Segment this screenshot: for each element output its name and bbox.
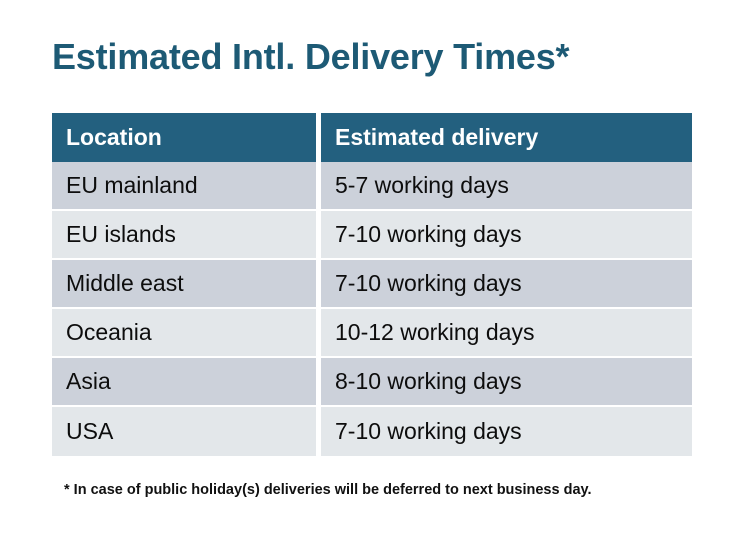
table-row: Middle east 7-10 working days — [52, 260, 692, 309]
delivery-times-table: Location Estimated delivery EU mainland … — [52, 113, 692, 456]
cell-estimated-delivery: 5-7 working days — [321, 162, 692, 211]
cell-location: EU mainland — [52, 162, 316, 211]
table-row: EU mainland 5-7 working days — [52, 162, 692, 211]
table-header-row: Location Estimated delivery — [52, 113, 692, 162]
column-header-location: Location — [52, 113, 316, 162]
cell-estimated-delivery: 7-10 working days — [321, 407, 692, 456]
table-row: USA 7-10 working days — [52, 407, 692, 456]
cell-location: EU islands — [52, 211, 316, 260]
table-row: Oceania 10-12 working days — [52, 309, 692, 358]
table-header: Location Estimated delivery — [52, 113, 692, 162]
cell-estimated-delivery: 10-12 working days — [321, 309, 692, 358]
cell-location: Oceania — [52, 309, 316, 358]
cell-estimated-delivery: 7-10 working days — [321, 260, 692, 309]
column-header-estimated-delivery: Estimated delivery — [321, 113, 692, 162]
footnote-text: * In case of public holiday(s) deliverie… — [64, 481, 592, 499]
cell-location: USA — [52, 407, 316, 456]
table-body: EU mainland 5-7 working days EU islands … — [52, 162, 692, 456]
table-row: Asia 8-10 working days — [52, 358, 692, 407]
page-title: Estimated Intl. Delivery Times* — [52, 36, 569, 78]
table-row: EU islands 7-10 working days — [52, 211, 692, 260]
cell-estimated-delivery: 8-10 working days — [321, 358, 692, 407]
cell-location: Asia — [52, 358, 316, 407]
cell-location: Middle east — [52, 260, 316, 309]
cell-estimated-delivery: 7-10 working days — [321, 211, 692, 260]
